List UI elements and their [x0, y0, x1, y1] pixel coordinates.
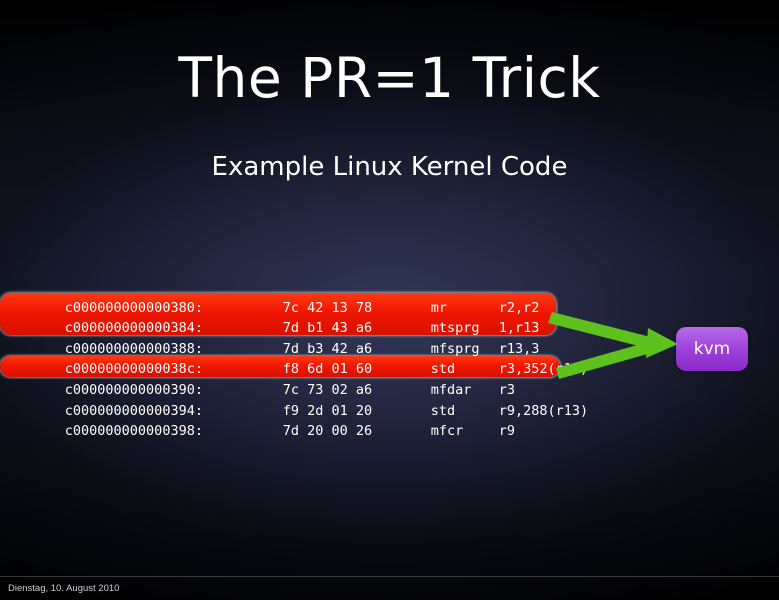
- code-row: c000000000000384:7d b1 43 a6mtsprg1,r13: [16, 298, 616, 319]
- slide-footer: Dienstag, 10. August 2010: [0, 576, 779, 600]
- code-row: c000000000000398:7d 20 00 26mfcrr9: [16, 401, 616, 422]
- code-row: c00000000000038c:f8 6d 01 60stdr3,352(r1…: [16, 339, 616, 360]
- code-row: c000000000000394:f9 2d 01 20stdr9,288(r1…: [16, 380, 616, 401]
- page-title: The PR=1 Trick: [0, 50, 779, 108]
- code-row: c000000000000380:7c 42 13 78mrr2,r2: [16, 277, 616, 298]
- slide-subtitle: Example Linux Kernel Code: [0, 152, 779, 182]
- footer-date: Dienstag, 10. August 2010: [8, 583, 119, 594]
- code-row: c000000000000390:7c 73 02 a6mfdarr3: [16, 359, 616, 380]
- code-row: c000000000000388:7d b3 42 a6mfsprgr13,3: [16, 318, 616, 339]
- kvm-callout-label: kvm: [694, 339, 730, 359]
- code-mnemonic: mfcr: [431, 421, 499, 442]
- code-operands: r9: [499, 421, 515, 442]
- kvm-callout-box: kvm: [676, 327, 748, 371]
- code-bytes: 7d 20 00 26: [283, 421, 431, 442]
- code-address: c000000000000398:: [65, 421, 283, 442]
- assembly-code-listing: c000000000000380:7c 42 13 78mrr2,r2 c000…: [16, 277, 616, 421]
- presentation-slide: The PR=1 Trick Example Linux Kernel Code…: [0, 0, 779, 600]
